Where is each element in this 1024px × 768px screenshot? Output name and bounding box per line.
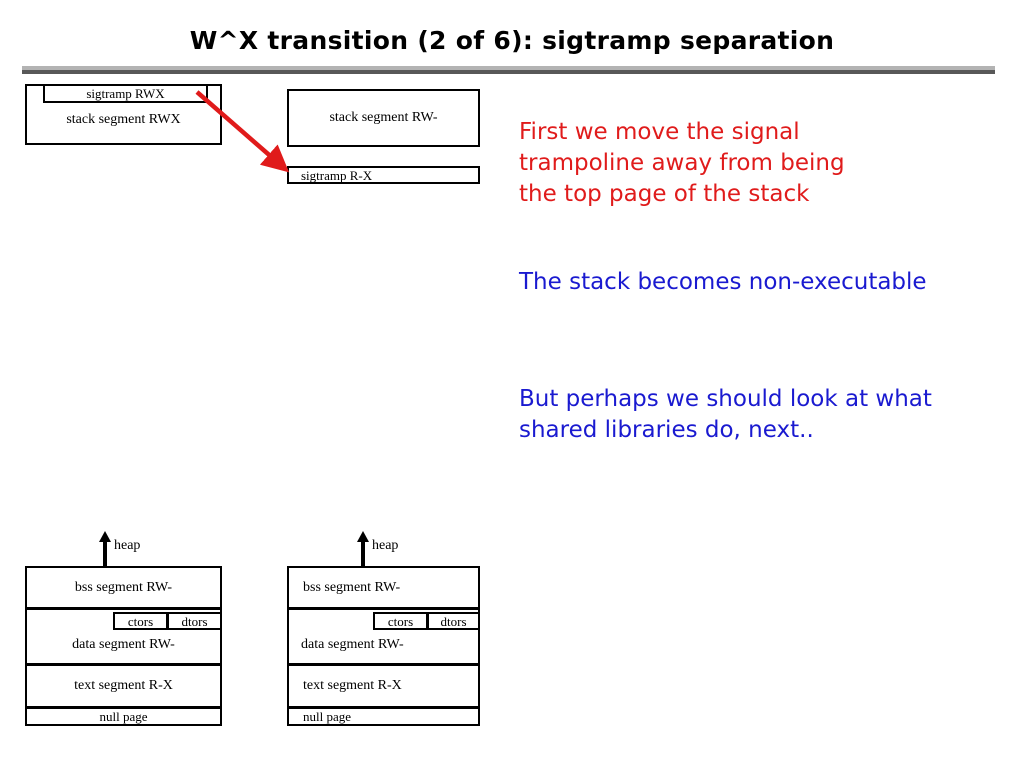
note-blue-stack-text: The stack becomes non-executable [519, 267, 1019, 298]
page-title: W^X transition (2 of 6): sigtramp separa… [0, 26, 1024, 55]
dtors-box-left: dtors [167, 612, 222, 630]
stack-before-sigtramp-label: sigtramp RWX [86, 87, 164, 100]
bss-segment-label-right: bss segment RW- [303, 581, 400, 595]
null-page-box-left: null page [25, 707, 222, 726]
ctors-box-right: ctors [373, 612, 428, 630]
stack-after-sigtramp-box: sigtramp R-X [287, 166, 480, 184]
bss-segment-box-right: bss segment RW- [287, 566, 480, 609]
heap-label-left: heap [114, 538, 140, 554]
stack-before-segment-label: stack segment RWX [25, 112, 222, 128]
stack-after-segment-box: stack segment RW- [287, 89, 480, 147]
dtors-box-right: dtors [427, 612, 480, 630]
bss-segment-label-left: bss segment RW- [75, 581, 172, 595]
data-segment-label-right: data segment RW- [301, 637, 481, 653]
stack-after-sigtramp-label: sigtramp R-X [301, 169, 372, 182]
text-segment-label-left: text segment R-X [74, 679, 173, 693]
text-segment-label-right: text segment R-X [303, 679, 402, 693]
ctors-label-left: ctors [128, 615, 153, 628]
text-segment-box-left: text segment R-X [25, 664, 222, 708]
dtors-label-left: dtors [182, 615, 208, 628]
ctors-box-left: ctors [113, 612, 168, 630]
rule-dark-band [22, 70, 995, 74]
note-blue-libraries-text: But perhaps we should look at what share… [519, 384, 1019, 446]
ctors-label-right: ctors [388, 615, 413, 628]
dtors-label-right: dtors [441, 615, 467, 628]
bss-segment-box-left: bss segment RW- [25, 566, 222, 609]
note-red-text: First we move the signal trampoline away… [519, 117, 1019, 210]
null-page-label-left: null page [99, 710, 147, 723]
title-separator-rule [22, 66, 995, 74]
text-segment-box-right: text segment R-X [287, 664, 480, 708]
heap-label-right: heap [372, 538, 398, 554]
data-segment-label-left: data segment RW- [25, 637, 222, 653]
null-page-box-right: null page [287, 707, 480, 726]
stack-after-segment-label: stack segment RW- [329, 111, 437, 125]
stack-before-sigtramp-box: sigtramp RWX [43, 84, 208, 103]
null-page-label-right: null page [303, 710, 351, 723]
